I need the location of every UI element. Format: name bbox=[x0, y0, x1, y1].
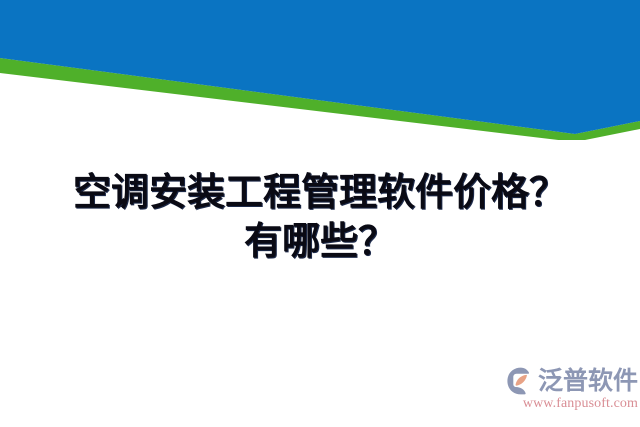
watermark-brand-name: 泛普软件 bbox=[538, 367, 638, 395]
fanpu-swoosh-logo-glyph bbox=[506, 366, 536, 396]
title-line-1: 空调安装工程管理软件价格？ bbox=[0, 168, 640, 217]
watermark: 泛普软件 www.fanpusoft.com bbox=[506, 364, 638, 416]
banner-blue-shape bbox=[0, 0, 640, 134]
watermark-brand-row: 泛普软件 bbox=[506, 364, 638, 398]
page-title: 空调安装工程管理软件价格？ 有哪些？ bbox=[0, 168, 640, 266]
header-banner bbox=[0, 0, 640, 140]
fanpu-swoosh-logo-icon bbox=[506, 366, 536, 396]
banner-shapes bbox=[0, 0, 640, 140]
title-line-2: 有哪些？ bbox=[0, 217, 640, 266]
watermark-url: www.fanpusoft.com bbox=[506, 396, 638, 412]
slide-canvas: 空调安装工程管理软件价格？ 有哪些？ 泛普软件 www.fanpusoft.co… bbox=[0, 0, 640, 427]
